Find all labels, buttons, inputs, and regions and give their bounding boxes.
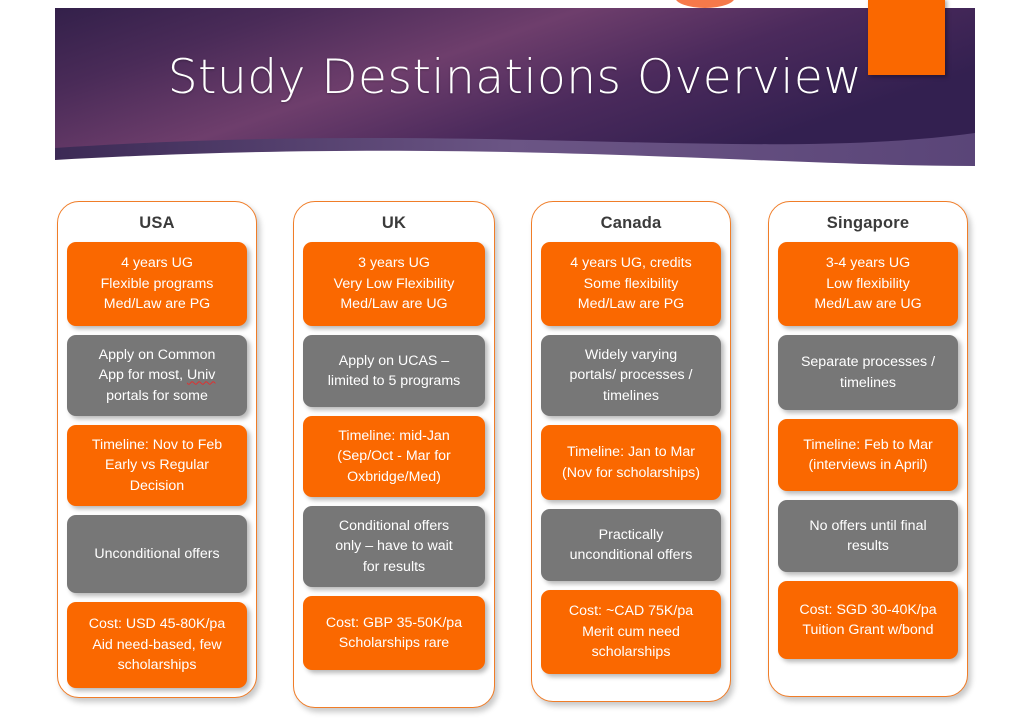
info-cell: Cost: GBP 35-50K/pa Scholarships rare xyxy=(303,596,485,670)
info-cell: Apply on UCAS – limited to 5 programs xyxy=(303,335,485,407)
info-cell: Cost: ~CAD 75K/pa Merit cum need scholar… xyxy=(541,590,721,674)
info-cell: Cost: USD 45-80K/pa Aid need-based, few … xyxy=(67,602,247,688)
info-cell: Widely varying portals/ processes / time… xyxy=(541,335,721,416)
spellcheck-underlined-word: Univ xyxy=(187,367,215,383)
info-cell: Unconditional offers xyxy=(67,515,247,593)
info-cell: Timeline: Nov to Feb Early vs Regular De… xyxy=(67,425,247,506)
destination-card-title: Singapore xyxy=(769,214,967,233)
info-cell: Separate processes / timelines xyxy=(778,335,958,410)
destination-card-singapore: Singapore3-4 years UG Low flexibility Me… xyxy=(768,201,968,697)
info-cell: Timeline: Feb to Mar (interviews in Apri… xyxy=(778,419,958,491)
info-cell: Timeline: Jan to Mar (Nov for scholarshi… xyxy=(541,425,721,500)
destination-card-canada: Canada4 years UG, credits Some flexibili… xyxy=(531,201,731,702)
destination-card-uk: UK3 years UG Very Low Flexibility Med/La… xyxy=(293,201,495,708)
info-cell: 3-4 years UG Low flexibility Med/Law are… xyxy=(778,242,958,326)
info-cell: Cost: SGD 30-40K/pa Tuition Grant w/bond xyxy=(778,581,958,659)
info-cell: No offers until final results xyxy=(778,500,958,572)
destination-card-title: Canada xyxy=(532,214,730,233)
destination-card-title: UK xyxy=(294,214,494,233)
info-cell: Practically unconditional offers xyxy=(541,509,721,581)
destination-card-usa: USA4 years UG Flexible programs Med/Law … xyxy=(57,201,257,698)
destination-card-title: USA xyxy=(58,214,256,233)
info-cell: Timeline: mid-Jan (Sep/Oct - Mar for Oxb… xyxy=(303,416,485,497)
destination-columns: USA4 years UG Flexible programs Med/Law … xyxy=(0,0,1024,718)
info-cell: 4 years UG Flexible programs Med/Law are… xyxy=(67,242,247,326)
info-cell: 3 years UG Very Low Flexibility Med/Law … xyxy=(303,242,485,326)
info-cell: Conditional offers only – have to wait f… xyxy=(303,506,485,587)
info-cell: Apply on Common App for most, Univ porta… xyxy=(67,335,247,416)
info-cell: 4 years UG, credits Some flexibility Med… xyxy=(541,242,721,326)
